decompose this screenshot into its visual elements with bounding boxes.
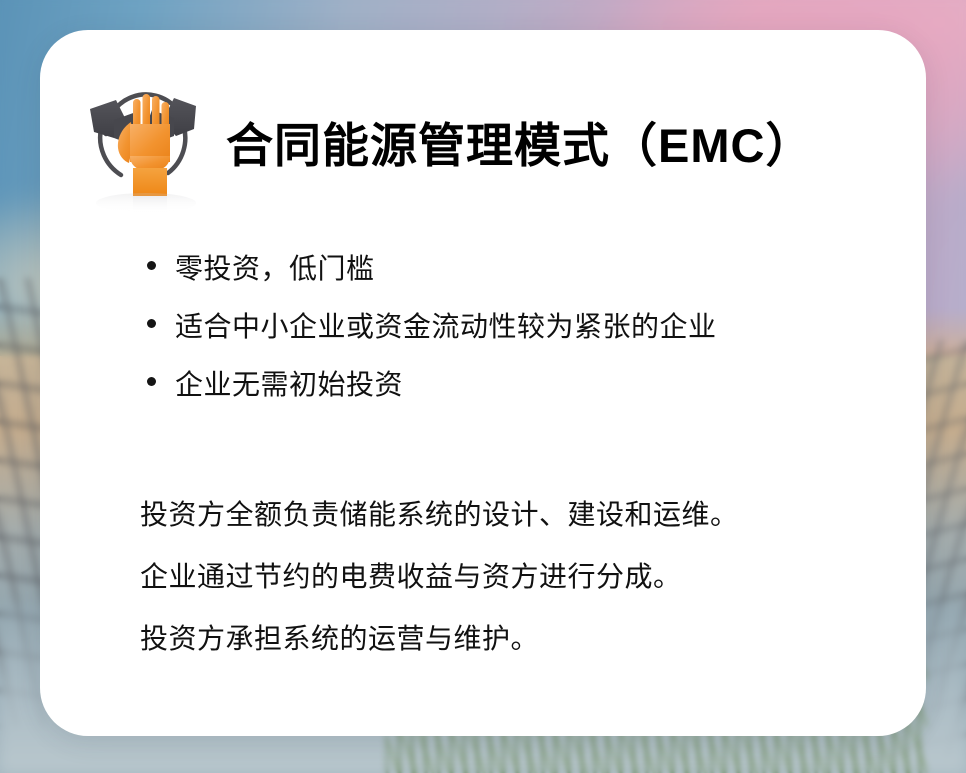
bullet-dot-icon bbox=[147, 377, 156, 386]
feature-bullet-list: 零投资，低门槛 适合中小企业或资金流动性较为紧张的企业 企业无需初始投资 bbox=[144, 252, 886, 402]
list-item: 零投资，低门槛 bbox=[144, 252, 886, 286]
bullet-dot-icon bbox=[147, 319, 156, 328]
slide-stage: 合同能源管理模式（EMC） 零投资，低门槛 适合中小企业或资金流动性较为紧张的企… bbox=[0, 0, 966, 773]
page-title: 合同能源管理模式（EMC） bbox=[226, 122, 813, 169]
paragraph-line: 投资方承担系统的运营与维护。 bbox=[140, 622, 886, 656]
list-item-label: 适合中小企业或资金流动性较为紧张的企业 bbox=[175, 311, 717, 342]
card-header: 合同能源管理模式（EMC） bbox=[84, 70, 886, 220]
list-item-label: 零投资，低门槛 bbox=[175, 253, 375, 284]
list-item: 适合中小企业或资金流动性较为紧张的企业 bbox=[144, 310, 886, 344]
content-card: 合同能源管理模式（EMC） 零投资，低门槛 适合中小企业或资金流动性较为紧张的企… bbox=[40, 30, 926, 736]
list-item: 企业无需初始投资 bbox=[144, 368, 886, 402]
paragraph-line: 投资方全额负责储能系统的设计、建设和运维。 bbox=[140, 498, 886, 532]
raised-hand-teamwork-icon bbox=[84, 72, 206, 218]
bullet-dot-icon bbox=[147, 261, 156, 270]
description-paragraph: 投资方全额负责储能系统的设计、建设和运维。 企业通过节约的电费收益与资方进行分成… bbox=[140, 498, 886, 656]
list-item-label: 企业无需初始投资 bbox=[175, 369, 403, 400]
paragraph-line: 企业通过节约的电费收益与资方进行分成。 bbox=[140, 560, 886, 594]
